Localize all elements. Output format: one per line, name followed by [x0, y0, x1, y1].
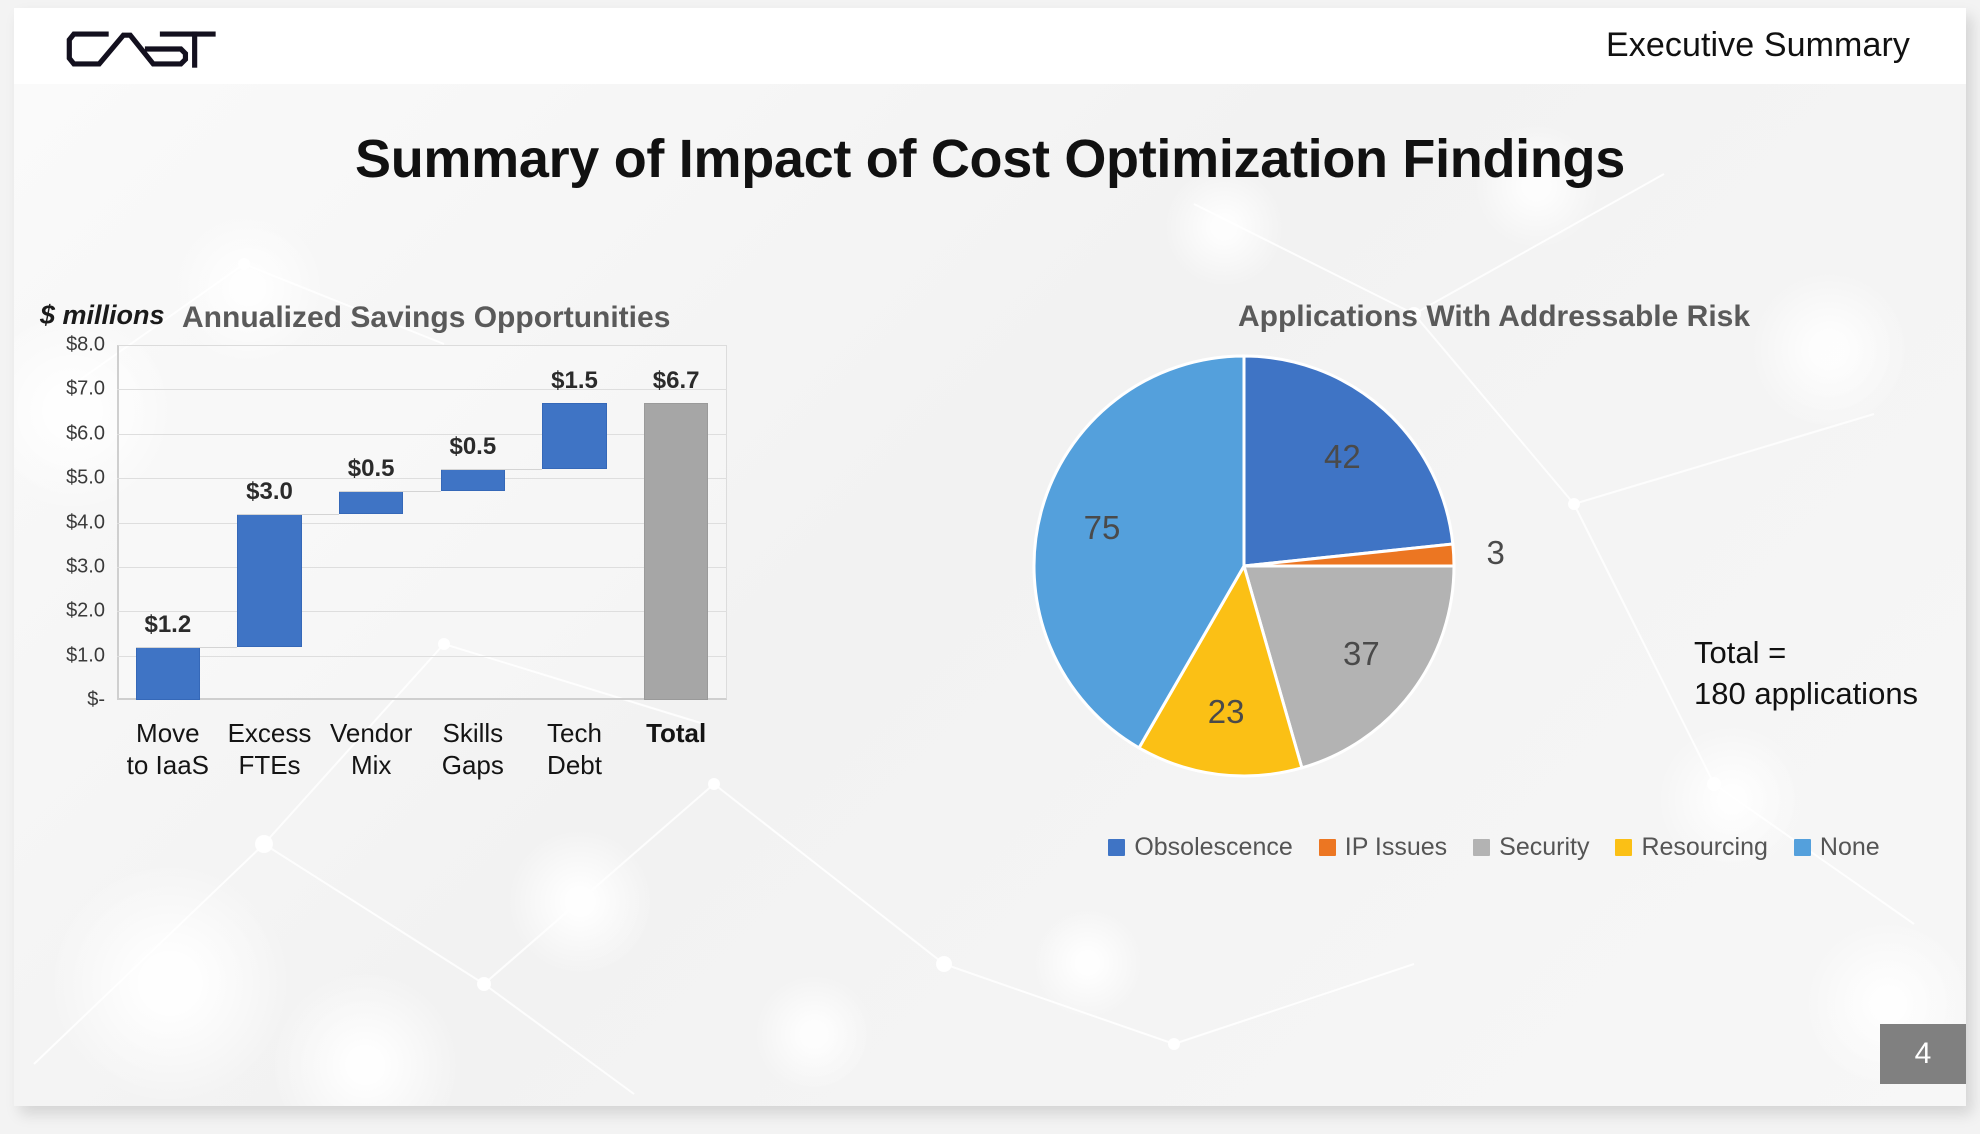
- pie-data-label: 42: [1324, 438, 1361, 476]
- pie-legend-item[interactable]: Security: [1473, 833, 1589, 862]
- bar-chart-bar[interactable]: [237, 514, 301, 647]
- bar-chart-y-tick: $-: [87, 689, 105, 712]
- pie-legend-item[interactable]: IP Issues: [1319, 833, 1447, 862]
- bar-chart-y-tick: $7.0: [66, 378, 105, 401]
- pie-data-label: 23: [1208, 693, 1245, 731]
- bar-chart-x-category: Skills Gaps: [442, 718, 504, 781]
- slide-card: Executive Summary Summary of Impact of C…: [14, 8, 1966, 1106]
- pie-chart-graphic: 423372375: [1034, 356, 1454, 776]
- bar-chart-connector: [441, 469, 543, 470]
- pie-total-annotation: Total = 180 applications: [1694, 633, 1918, 715]
- pie-legend-label: IP Issues: [1345, 833, 1447, 862]
- bar-chart-bar[interactable]: [339, 491, 403, 513]
- pie-chart-panel: Applications With Addressable Risk 42337…: [1014, 288, 1966, 1008]
- bar-chart-x-category: Excess FTEs: [228, 718, 312, 781]
- bar-chart-data-label: $0.5: [348, 455, 395, 483]
- bar-chart-y-tick: $1.0: [66, 644, 105, 667]
- pie-chart-legend: ObsolescenceIP IssuesSecurityResourcingN…: [1014, 833, 1966, 862]
- pie-data-label: 37: [1343, 635, 1380, 673]
- bar-chart-data-label: $1.5: [551, 367, 598, 395]
- bar-chart-x-category: Vendor Mix: [330, 718, 412, 781]
- legend-swatch-icon: [1615, 839, 1632, 856]
- bar-chart-y-unit-label: $ millions: [40, 300, 165, 331]
- bar-chart-data-label: $0.5: [449, 433, 496, 461]
- bar-chart-panel: $ millions Annualized Savings Opportunit…: [22, 288, 922, 1008]
- bar-chart-gridline: [117, 478, 727, 479]
- cast-logo-icon: [60, 26, 235, 72]
- bar-chart-y-tick: $4.0: [66, 511, 105, 534]
- bar-chart-gridline: [117, 567, 727, 568]
- bar-chart-data-label: $1.2: [144, 611, 191, 639]
- bar-chart-gridline: [117, 523, 727, 524]
- bar-chart-bar[interactable]: [644, 403, 708, 700]
- bar-chart-gridline: [117, 389, 727, 390]
- bar-chart-gridline: [117, 656, 727, 657]
- legend-swatch-icon: [1473, 839, 1490, 856]
- bar-chart-x-category: Tech Debt: [547, 718, 602, 781]
- bar-chart-plot-area: $8.0$7.0$6.0$5.0$4.0$3.0$2.0$1.0$-$1.2Mo…: [117, 345, 727, 700]
- bar-chart-data-label: $6.7: [653, 367, 700, 395]
- page-title: Summary of Impact of Cost Optimization F…: [14, 128, 1966, 190]
- bar-chart-bar[interactable]: [441, 469, 505, 491]
- slide-root: Executive Summary Summary of Impact of C…: [0, 0, 1980, 1134]
- bar-chart-x-category: Move to IaaS: [127, 718, 209, 781]
- legend-swatch-icon: [1794, 839, 1811, 856]
- bar-chart-y-tick: $3.0: [66, 555, 105, 578]
- bar-chart-connector: [237, 514, 339, 515]
- bar-chart-bar[interactable]: [542, 403, 606, 470]
- pie-chart-title: Applications With Addressable Risk: [1014, 300, 1966, 334]
- pie-legend-item[interactable]: Obsolescence: [1108, 833, 1292, 862]
- legend-swatch-icon: [1108, 839, 1125, 856]
- bar-chart-gridline: [117, 434, 727, 435]
- pie-legend-item[interactable]: None: [1794, 833, 1880, 862]
- section-label: Executive Summary: [1606, 26, 1910, 65]
- bar-chart-connector: [136, 647, 238, 648]
- bar-chart-y-tick: $8.0: [66, 334, 105, 357]
- bar-chart-data-label: $3.0: [246, 478, 293, 506]
- legend-swatch-icon: [1319, 839, 1336, 856]
- bar-chart-y-tick: $6.0: [66, 422, 105, 445]
- bar-chart-bar[interactable]: [136, 647, 200, 700]
- pie-legend-label: Obsolescence: [1134, 833, 1292, 862]
- pie-legend-item[interactable]: Resourcing: [1615, 833, 1767, 862]
- pie-legend-label: Security: [1499, 833, 1589, 862]
- pie-legend-label: Resourcing: [1641, 833, 1767, 862]
- bar-chart-title: Annualized Savings Opportunities: [182, 301, 670, 335]
- bar-chart-connector: [339, 491, 441, 492]
- bar-chart-gridline: [117, 611, 727, 612]
- bar-chart-x-category: Total: [646, 718, 706, 750]
- pie-data-label: 75: [1084, 509, 1121, 547]
- pie-legend-label: None: [1820, 833, 1880, 862]
- pie-data-label: 3: [1486, 534, 1504, 572]
- page-number-badge: 4: [1880, 1024, 1966, 1084]
- bar-chart-y-tick: $5.0: [66, 467, 105, 490]
- bar-chart-y-tick: $2.0: [66, 600, 105, 623]
